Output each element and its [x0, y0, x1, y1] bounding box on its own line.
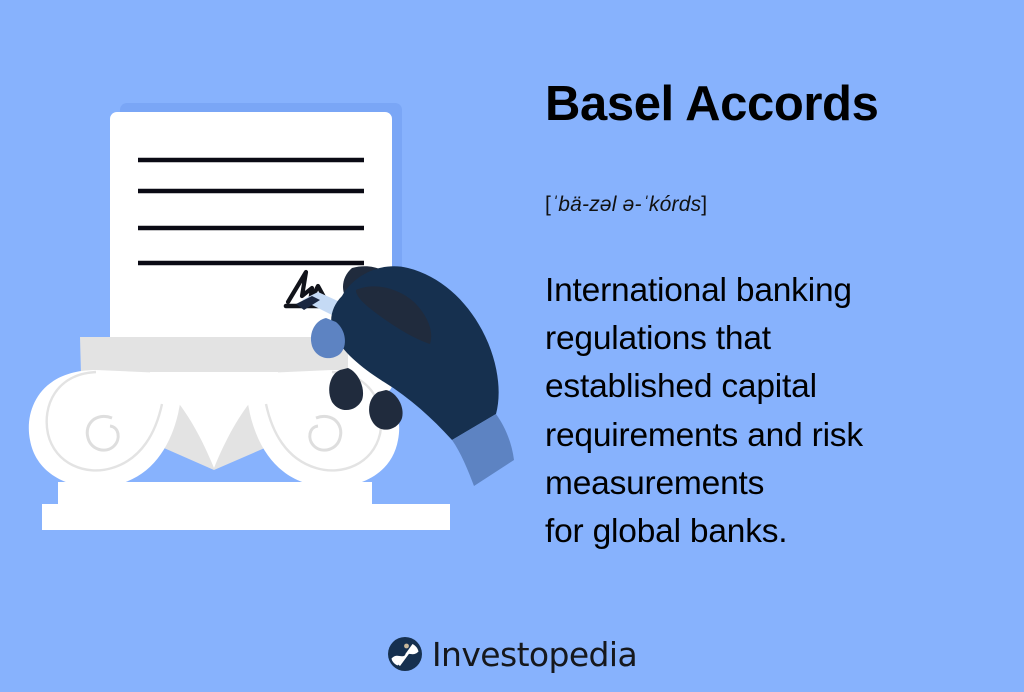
definition-line: measurements [545, 460, 965, 508]
definition-line: established capital [545, 363, 965, 411]
definition-line: International banking [545, 267, 965, 315]
column-volute-left [29, 370, 186, 487]
definition-line: for global banks. [545, 508, 965, 556]
definition-line: regulations that [545, 315, 965, 363]
investopedia-logo: Investopedia [0, 636, 1024, 672]
illustration-signing-document [0, 0, 520, 600]
column-upper-base [58, 482, 372, 504]
investopedia-wordmark: Investopedia [432, 638, 637, 671]
hand-knuckle-shadow-b [369, 390, 403, 430]
page-title: Basel Accords [545, 80, 965, 129]
pronunciation-close-bracket: ] [701, 193, 707, 216]
investopedia-logo-icon [387, 636, 423, 672]
definition-line: requirements and risk [545, 412, 965, 460]
column-lower-base [42, 504, 450, 530]
pronunciation: [ˈbä-zəl ə-ˈkórds] [545, 193, 965, 217]
definition-text: International banking regulations that e… [545, 267, 965, 556]
infographic-canvas: Basel Accords [ˈbä-zəl ə-ˈkórds] Interna… [0, 0, 1024, 692]
pronunciation-phonetic: ˈbä-zəl ə-ˈkórds [551, 193, 701, 216]
column-volute-right [242, 370, 399, 487]
definition-panel: Basel Accords [ˈbä-zəl ə-ˈkórds] Interna… [545, 80, 965, 556]
